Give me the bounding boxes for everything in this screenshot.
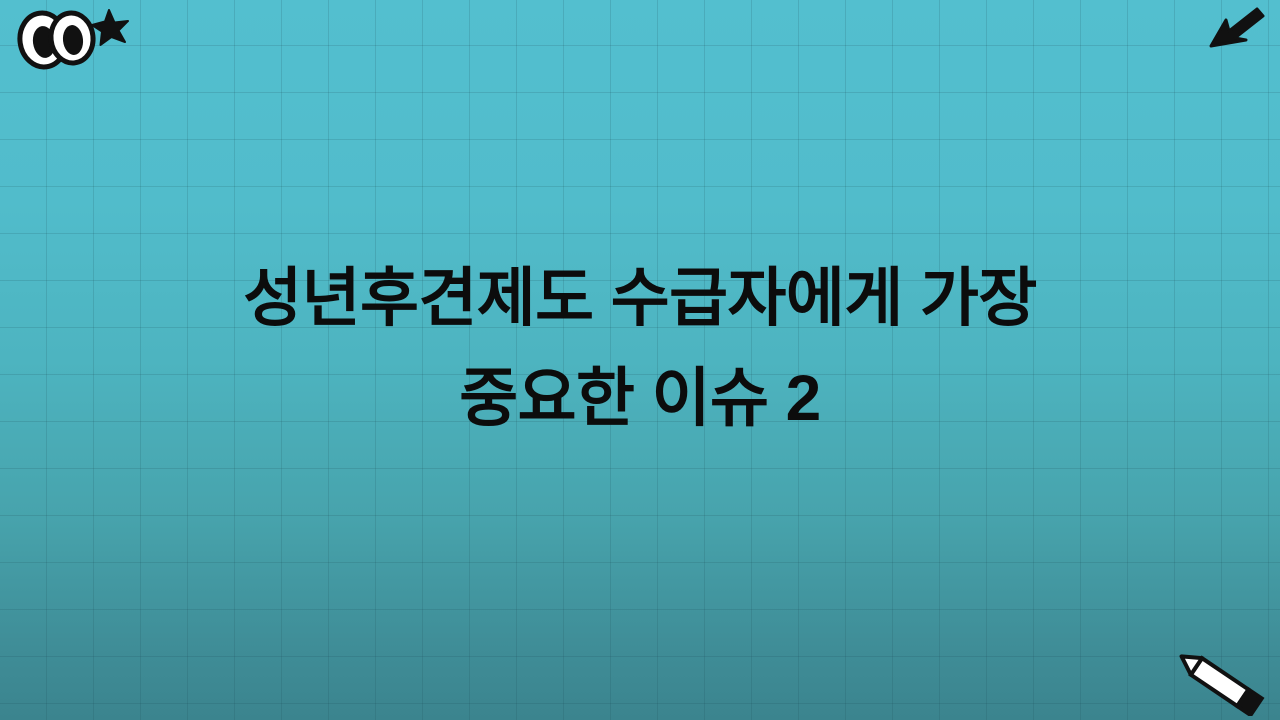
brand-logo[interactable] bbox=[10, 4, 130, 70]
title-line-1: 성년후견제도 수급자에게 가장 bbox=[0, 248, 1280, 348]
star-icon bbox=[92, 10, 128, 45]
pencil-icon bbox=[1166, 646, 1270, 716]
title-line-2: 중요한 이슈 2 bbox=[0, 348, 1280, 448]
page-title: 성년후견제도 수급자에게 가장 중요한 이슈 2 bbox=[0, 248, 1280, 448]
slide-canvas: 성년후견제도 수급자에게 가장 중요한 이슈 2 bbox=[0, 0, 1280, 720]
arrow-cursor-icon bbox=[1205, 4, 1269, 52]
eyes-icon bbox=[16, 10, 95, 70]
